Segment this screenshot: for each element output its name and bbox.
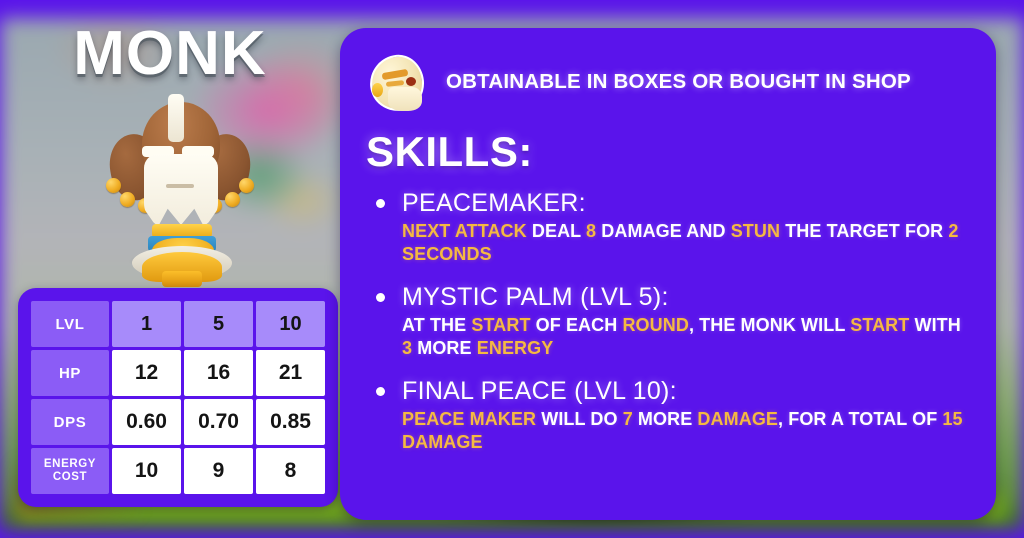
pedestal-plug (162, 271, 202, 287)
monk-mouth (166, 184, 194, 188)
page-title: MONK (0, 18, 340, 89)
energy-label-line2: COST (53, 471, 87, 483)
bullet-icon (376, 199, 385, 208)
monk-beard (144, 154, 218, 228)
prayer-bead-icon (225, 192, 240, 207)
stat-dps-lvl1: 0.60 (112, 399, 181, 445)
monk-head-icon-eye (406, 77, 416, 86)
highlight-text: NEXT ATTACK (402, 221, 527, 241)
bullet-icon (376, 387, 385, 396)
highlight-text: DAMAGE (697, 409, 778, 429)
skill-description: AT THE START OF EACH ROUND, THE MONK WIL… (402, 314, 970, 360)
skill-name: PEACEMAKER: (402, 188, 970, 218)
highlight-text: ENERGY (477, 338, 554, 358)
stats-card: LVL 1 5 10 HP 12 16 21 DPS 0.60 0.70 0.8… (18, 288, 338, 507)
body-text: WILL DO (536, 409, 623, 429)
body-text: DAMAGE AND (596, 221, 731, 241)
list-item: FINAL PEACE (LVL 10): PEACE MAKER WILL D… (366, 376, 970, 454)
energy-label-line1: ENERGY (44, 458, 96, 470)
body-text: DEAL (527, 221, 586, 241)
table-row: ENERGY COST 10 9 8 (31, 448, 325, 494)
stat-hp-lvl5: 16 (184, 350, 253, 396)
highlight-text: STUN (731, 221, 780, 241)
obtainable-text: OBTAINABLE IN BOXES OR BOUGHT IN SHOP (446, 70, 911, 94)
table-row: DPS 0.60 0.70 0.85 (31, 399, 325, 445)
body-text: AT THE (402, 315, 471, 335)
stats-table: LVL 1 5 10 HP 12 16 21 DPS 0.60 0.70 0.8… (28, 298, 328, 497)
body-text: MORE (633, 409, 698, 429)
highlight-text: 3 (402, 338, 412, 358)
stat-energy-lvl1: 10 (112, 448, 181, 494)
body-text: WITH (909, 315, 961, 335)
stat-dps-lvl5: 0.70 (184, 399, 253, 445)
bullet-icon (376, 293, 385, 302)
stat-label-hp: HP (31, 350, 109, 396)
body-text: , FOR A TOTAL OF (778, 409, 942, 429)
body-text: , THE MONK WILL (689, 315, 850, 335)
highlight-text: START (471, 315, 530, 335)
monk-head-icon (366, 51, 428, 113)
skill-name: MYSTIC PALM (LVL 5): (402, 282, 970, 312)
skills-panel: OBTAINABLE IN BOXES OR BOUGHT IN SHOP SK… (340, 28, 996, 520)
highlight-text: 8 (586, 221, 596, 241)
highlight-text: 7 (623, 409, 633, 429)
stat-energy-lvl10: 8 (256, 448, 325, 494)
stat-label-energy-cost: ENERGY COST (31, 448, 109, 494)
stats-table-body: LVL 1 5 10 HP 12 16 21 DPS 0.60 0.70 0.8… (31, 301, 325, 494)
list-item: MYSTIC PALM (LVL 5): AT THE START OF EAC… (366, 282, 970, 360)
table-row: LVL 1 5 10 (31, 301, 325, 347)
obtainable-row: OBTAINABLE IN BOXES OR BOUGHT IN SHOP (366, 50, 970, 114)
skill-description: PEACE MAKER WILL DO 7 MORE DAMAGE, FOR A… (402, 408, 970, 454)
body-text: OF EACH (531, 315, 623, 335)
monk-head-icon-beard (388, 87, 422, 111)
stat-energy-lvl5: 9 (184, 448, 253, 494)
prayer-bead-icon (106, 178, 121, 193)
stat-hp-lvl10: 21 (256, 350, 325, 396)
stat-label-dps: DPS (31, 399, 109, 445)
skill-name: FINAL PEACE (LVL 10): (402, 376, 970, 406)
stat-lvl-5: 5 (184, 301, 253, 347)
list-item: PEACEMAKER: NEXT ATTACK DEAL 8 DAMAGE AN… (366, 188, 970, 266)
highlight-text: PEACE MAKER (402, 409, 536, 429)
table-row: HP 12 16 21 (31, 350, 325, 396)
stat-lvl-10: 10 (256, 301, 325, 347)
stat-lvl-1: 1 (112, 301, 181, 347)
stat-hp-lvl1: 12 (112, 350, 181, 396)
body-text: MORE (412, 338, 477, 358)
character-info-screen: MONK LVL 1 5 (0, 0, 1024, 538)
stat-dps-lvl10: 0.85 (256, 399, 325, 445)
skills-list: PEACEMAKER: NEXT ATTACK DEAL 8 DAMAGE AN… (366, 188, 970, 454)
prayer-bead-icon (239, 178, 254, 193)
monk-character-icon (104, 88, 256, 278)
highlight-text: ROUND (622, 315, 689, 335)
body-text: THE TARGET FOR (780, 221, 948, 241)
prayer-bead-icon (120, 192, 135, 207)
skill-description: NEXT ATTACK DEAL 8 DAMAGE AND STUN THE T… (402, 220, 970, 266)
skills-heading: SKILLS: (366, 128, 970, 176)
monk-forehead-stripe (168, 94, 184, 142)
monk-head-icon-earring (372, 83, 383, 97)
stat-label-lvl: LVL (31, 301, 109, 347)
highlight-text: START (850, 315, 909, 335)
